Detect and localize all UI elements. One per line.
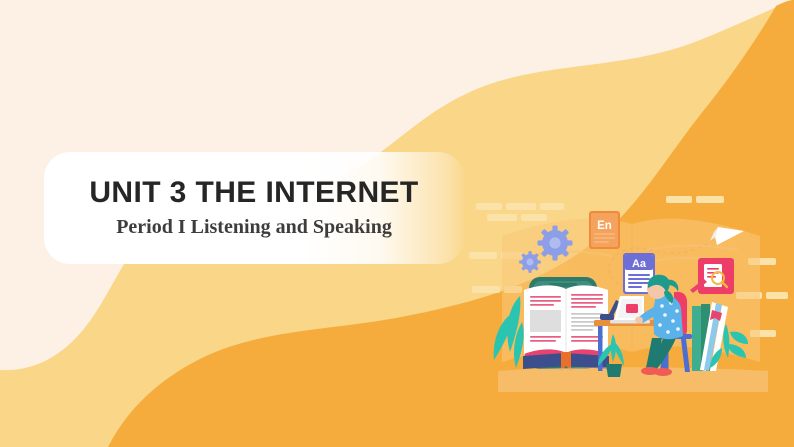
- title-card: UNIT 3 THE INTERNET Period I Listening a…: [44, 152, 464, 264]
- slide-root: En: [0, 0, 794, 447]
- svg-text:En: En: [597, 220, 612, 232]
- svg-text:Aa: Aa: [632, 258, 647, 270]
- en-card: En: [589, 211, 620, 249]
- page-subtitle: Period I Listening and Speaking: [116, 216, 392, 238]
- open-book: [523, 285, 609, 371]
- page-title: UNIT 3 THE INTERNET: [89, 176, 418, 209]
- floor-line: [498, 367, 768, 392]
